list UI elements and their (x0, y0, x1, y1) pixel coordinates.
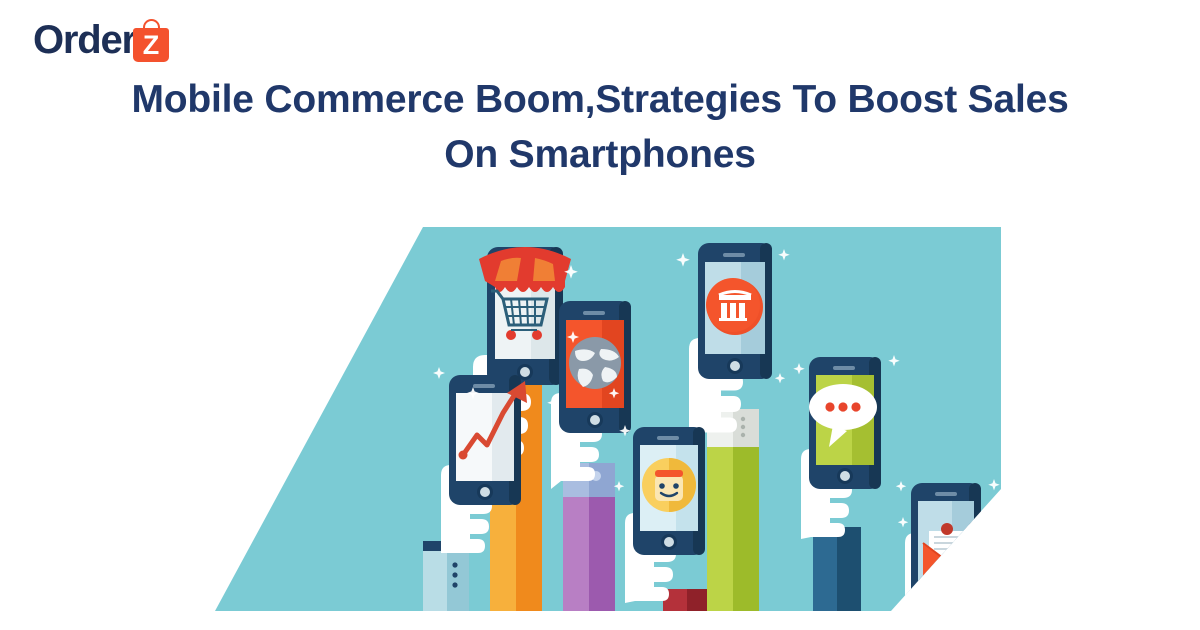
sleeve-avatar (663, 589, 709, 611)
page-title: Mobile Commerce Boom,Strategies To Boost… (0, 72, 1200, 183)
brand-bag-letter: Z (133, 28, 169, 62)
sleeve-chat (813, 527, 861, 611)
brand-logo[interactable]: Order Z (33, 8, 169, 60)
hero-illustration (215, 227, 1001, 611)
sleeve-store-badge (707, 409, 759, 611)
shopping-bag-icon: Z (133, 19, 169, 62)
brand-wordmark: Order (33, 20, 136, 60)
sleeve-globe (563, 463, 615, 611)
storefront-awning-icon (479, 247, 571, 292)
envelope-icon (923, 523, 971, 577)
page-root: Order Z Mobile Commerce Boom,Strategies … (0, 0, 1200, 630)
globe-icon (569, 337, 621, 389)
user-avatar-icon (642, 458, 696, 512)
